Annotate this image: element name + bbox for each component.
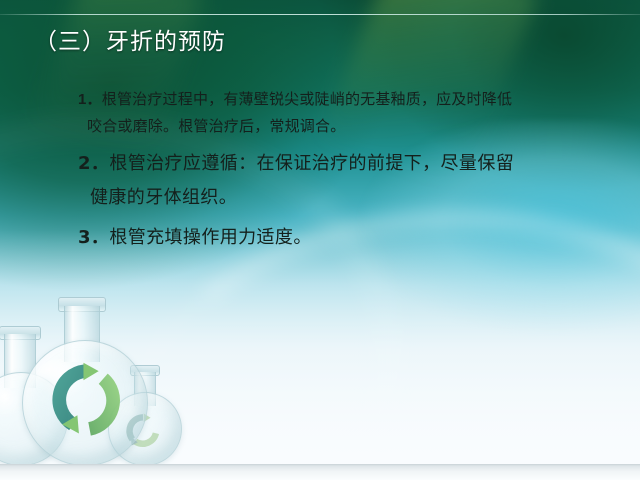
list-item: 3．根管充填操作用力适度。 xyxy=(78,221,618,255)
list-item-number: 1． xyxy=(78,91,102,108)
slide-title: （三）牙折的预防 xyxy=(34,22,226,56)
list-item: 1．根管治疗过程中，有薄壁锐尖或陡峭的无基釉质，应及时降低 咬合或磨除。根管治疗… xyxy=(78,86,618,139)
list-item-number: 2． xyxy=(78,153,109,174)
list-item-text: 根管充填操作用力适度。 xyxy=(109,227,311,248)
list-item-line-continued: 咬合或磨除。根管治疗后，常规调合。 xyxy=(78,113,618,139)
shelf-surface xyxy=(0,464,640,480)
list-item-number: 3． xyxy=(78,227,109,248)
list-item-line-continued: 健康的牙体组织。 xyxy=(78,181,618,215)
list-item-line: 3．根管充填操作用力适度。 xyxy=(78,221,618,255)
slide-canvas: （三）牙折的预防 1．根管治疗过程中，有薄壁锐尖或陡峭的无基釉质，应及时降低 咬… xyxy=(0,0,640,480)
flask-illustration xyxy=(0,286,200,466)
header-divider xyxy=(0,14,640,15)
list-item-text: 根管治疗应遵循：在保证治疗的前提下，尽量保留 xyxy=(109,153,514,174)
list-item-line: 2．根管治疗应遵循：在保证治疗的前提下，尽量保留 xyxy=(78,147,618,181)
list-item: 2．根管治疗应遵循：在保证治疗的前提下，尽量保留 健康的牙体组织。 xyxy=(78,147,618,215)
list-item-line: 1．根管治疗过程中，有薄壁锐尖或陡峭的无基釉质，应及时降低 xyxy=(78,86,618,113)
recycle-arrows-icon xyxy=(47,362,123,438)
list-item-text: 根管治疗过程中，有薄壁锐尖或陡峭的无基釉质，应及时降低 xyxy=(102,90,512,108)
content-list: 1．根管治疗过程中，有薄壁锐尖或陡峭的无基釉质，应及时降低 咬合或磨除。根管治疗… xyxy=(78,86,618,259)
